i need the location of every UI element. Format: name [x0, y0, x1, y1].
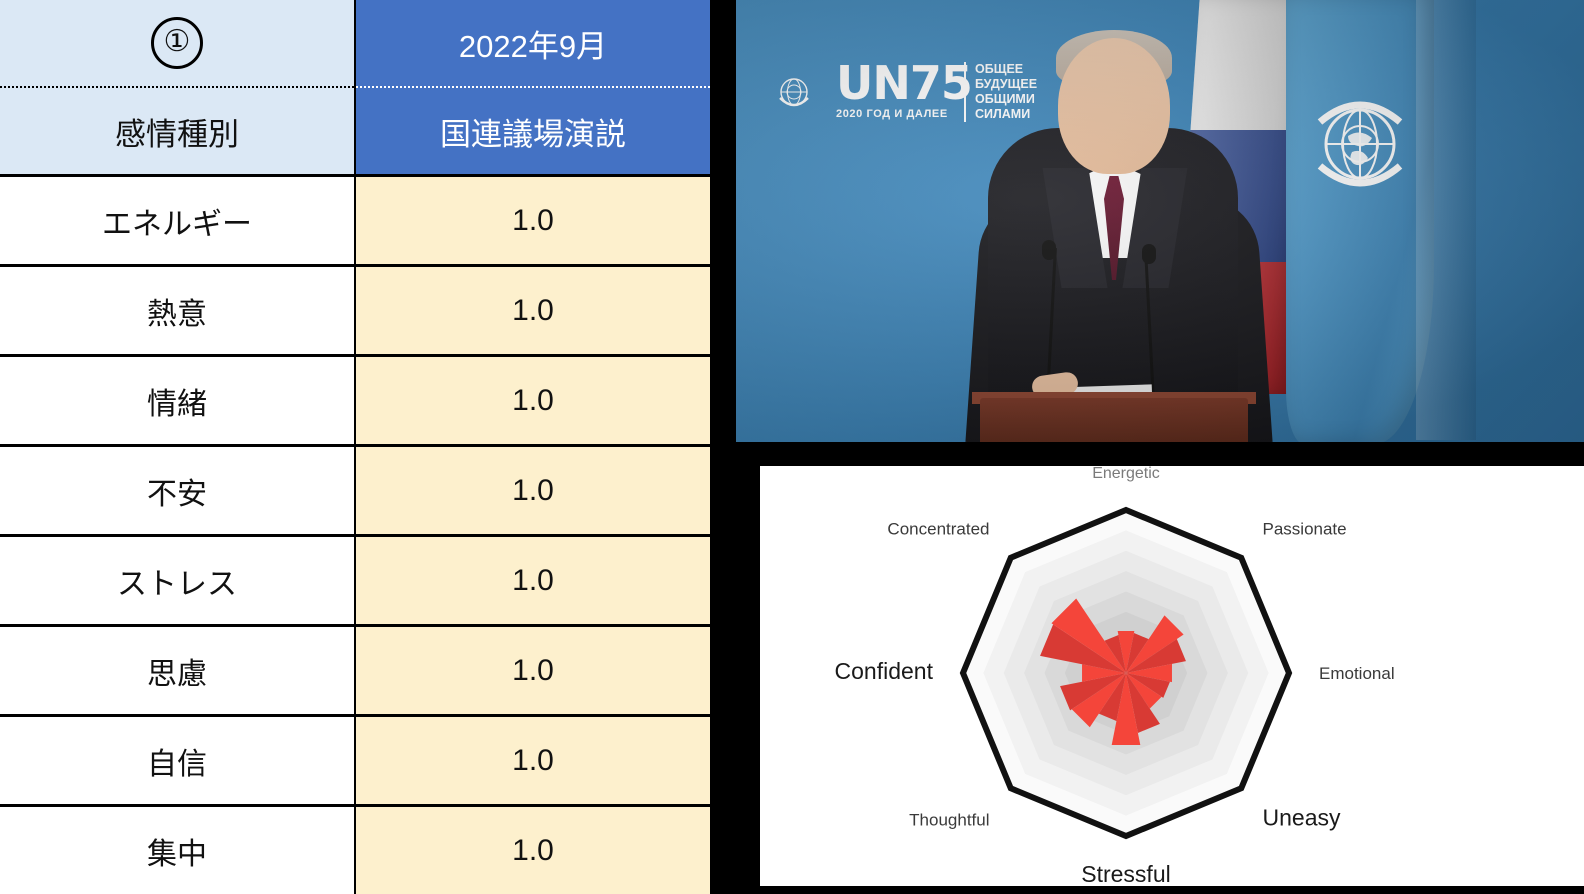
- circled-number-badge: ①: [151, 17, 203, 69]
- table-row: 不安 1.0: [0, 446, 710, 536]
- row-category: 熱意: [0, 266, 355, 356]
- table-row: 情緒 1.0: [0, 356, 710, 446]
- row-value: 1.0: [355, 806, 710, 894]
- photo-vignette: [736, 0, 1584, 442]
- table-row: 自信 1.0: [0, 716, 710, 806]
- sentiment-radar-panel: EnergeticPassionateEmotionalUneasyStress…: [760, 466, 1584, 886]
- header-category-cell: 感情種別: [0, 87, 355, 176]
- radar-axis-label-uneasy: Uneasy: [1263, 805, 1341, 831]
- row-category: 自信: [0, 716, 355, 806]
- row-value: 1.0: [355, 536, 710, 626]
- row-value: 1.0: [355, 266, 710, 356]
- radar-axis-label-confident: Confident: [835, 658, 934, 684]
- header-period-cell: 2022年9月: [355, 0, 710, 87]
- row-category: ストレス: [0, 536, 355, 626]
- table-row: 集中 1.0: [0, 806, 710, 894]
- row-category: 情緒: [0, 356, 355, 446]
- row-value: 1.0: [355, 356, 710, 446]
- sentiment-radar-chart: EnergeticPassionateEmotionalUneasyStress…: [760, 466, 1584, 886]
- row-value: 1.0: [355, 626, 710, 716]
- sentiment-table-panel: ① 2022年9月 感情種別 国連議場演説 エネルギー 1.0 熱意 1.0 情…: [0, 0, 718, 886]
- radar-axis-label-passionate: Passionate: [1263, 520, 1347, 539]
- header-value-cell: 国連議場演説: [355, 87, 710, 176]
- radar-axis-label-energetic: Energetic: [1092, 466, 1160, 482]
- table-row: エネルギー 1.0: [0, 176, 710, 266]
- sentiment-table: ① 2022年9月 感情種別 国連議場演説 エネルギー 1.0 熱意 1.0 情…: [0, 0, 710, 894]
- table-header-bottom-row: 感情種別 国連議場演説: [0, 87, 710, 176]
- row-value: 1.0: [355, 446, 710, 536]
- row-category: 思慮: [0, 626, 355, 716]
- radar-axis-label-emotional: Emotional: [1319, 664, 1395, 683]
- row-value: 1.0: [355, 716, 710, 806]
- table-row: 思慮 1.0: [0, 626, 710, 716]
- speech-photo: UN75 2020 ГОД И ДАЛЕЕ ОБЩЕЕ БУДУЩЕЕ ОБЩИ…: [736, 0, 1584, 442]
- table-row: 熱意 1.0: [0, 266, 710, 356]
- table-row: ストレス 1.0: [0, 536, 710, 626]
- row-value: 1.0: [355, 176, 710, 266]
- radar-axis-label-stressful: Stressful: [1081, 861, 1170, 886]
- table-header-top-row: ① 2022年9月: [0, 0, 710, 87]
- header-number-cell: ①: [0, 0, 355, 87]
- row-category: 不安: [0, 446, 355, 536]
- row-category: エネルギー: [0, 176, 355, 266]
- row-category: 集中: [0, 806, 355, 894]
- radar-axis-label-concentrated: Concentrated: [887, 520, 989, 539]
- radar-axis-label-thoughtful: Thoughtful: [909, 811, 989, 830]
